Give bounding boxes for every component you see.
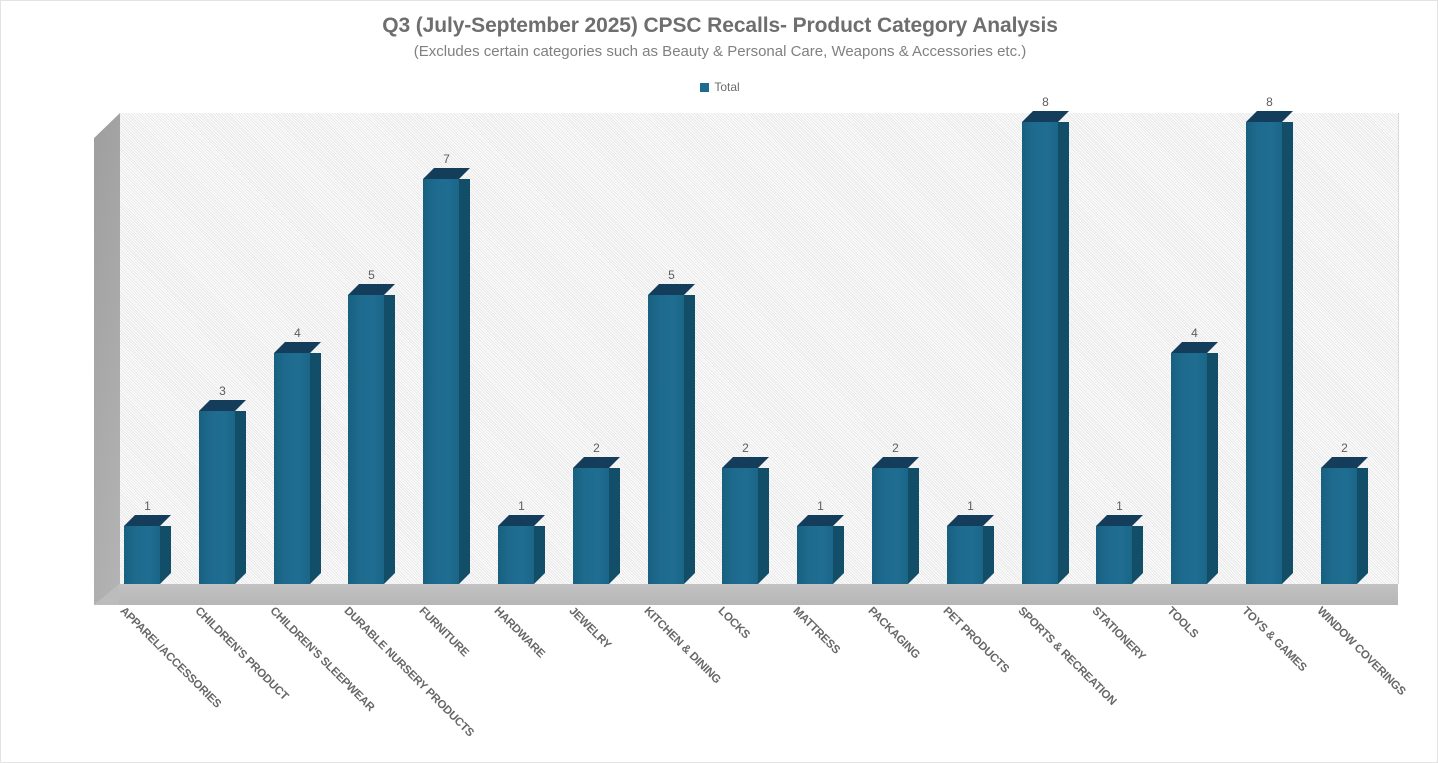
legend-item-label: Total xyxy=(714,80,739,94)
bar-value-label: 4 xyxy=(274,326,321,340)
bar-3[interactable]: 4 xyxy=(274,342,321,584)
bar-front-face xyxy=(1096,526,1132,584)
bar-value-label: 1 xyxy=(1096,499,1143,513)
bar-side-face xyxy=(534,526,545,584)
bar-value-label: 7 xyxy=(423,152,470,166)
x-axis-label-9: LOCKS xyxy=(716,605,752,641)
bar-front-face xyxy=(1171,353,1207,584)
bar-value-label: 2 xyxy=(722,441,769,455)
chart-canvas: Q3 (July-September 2025) CPSC Recalls- P… xyxy=(0,0,1438,763)
plot-floor-surface xyxy=(119,584,1398,605)
bar-1[interactable]: 1 xyxy=(124,515,171,584)
bar-front-face xyxy=(797,526,833,584)
bar-top-face xyxy=(872,457,919,468)
bar-front-face xyxy=(947,526,983,584)
x-axis-label-15: TOOLS xyxy=(1165,605,1201,641)
bar-8[interactable]: 5 xyxy=(648,284,695,584)
bar-value-label: 1 xyxy=(124,499,171,513)
bar-side-face xyxy=(1132,526,1143,584)
bar-top-face xyxy=(573,457,620,468)
bar-11[interactable]: 2 xyxy=(872,457,919,584)
bar-top-face xyxy=(947,515,994,526)
bar-side-face xyxy=(310,353,321,584)
x-axis-label-16: TOYS & GAMES xyxy=(1240,605,1309,674)
legend-item-total[interactable]: Total xyxy=(700,80,739,94)
bar-10[interactable]: 1 xyxy=(797,515,844,584)
bar-top-face xyxy=(722,457,769,468)
page-title: Q3 (July-September 2025) CPSC Recalls- P… xyxy=(1,14,1438,38)
chart-legend: Total xyxy=(1,80,1438,94)
x-axis-labels: APPAREL/ACCESSORIESCHILDREN'S PRODUCTCHI… xyxy=(94,605,1404,735)
bar-17[interactable]: 2 xyxy=(1321,457,1368,584)
bar-top-face xyxy=(1321,457,1368,468)
x-axis-label-6: HARDWARE xyxy=(492,605,547,660)
bar-side-face xyxy=(1207,353,1218,584)
bar-top-face xyxy=(1022,111,1069,122)
bar-value-label: 5 xyxy=(348,268,395,282)
bar-front-face xyxy=(348,295,384,584)
bar-value-label: 2 xyxy=(1321,441,1368,455)
x-axis-label-12: PET PRODUCTS xyxy=(941,605,1012,676)
bar-value-label: 2 xyxy=(573,441,620,455)
bar-4[interactable]: 5 xyxy=(348,284,395,584)
x-axis-label-17: WINDOW COVERINGS xyxy=(1315,605,1408,698)
bar-value-label: 1 xyxy=(947,499,994,513)
bar-value-label: 1 xyxy=(797,499,844,513)
bar-front-face xyxy=(573,468,609,584)
bar-front-face xyxy=(648,295,684,584)
bar-top-face xyxy=(199,400,246,411)
bar-front-face xyxy=(199,411,235,584)
bar-top-face xyxy=(1096,515,1143,526)
x-axis-label-11: PACKAGING xyxy=(866,605,922,661)
bar-side-face xyxy=(758,468,769,584)
bar-side-face xyxy=(160,526,171,584)
bar-value-label: 2 xyxy=(872,441,919,455)
bar-front-face xyxy=(1022,122,1058,584)
bar-front-face xyxy=(124,526,160,584)
bar-12[interactable]: 1 xyxy=(947,515,994,584)
bar-9[interactable]: 2 xyxy=(722,457,769,584)
bar-side-face xyxy=(684,295,695,584)
bar-top-face xyxy=(348,284,395,295)
bar-value-label: 8 xyxy=(1022,95,1069,109)
bar-5[interactable]: 7 xyxy=(423,168,470,584)
plot-area: 13457125212181482 xyxy=(94,113,1398,605)
bar-value-label: 4 xyxy=(1171,326,1218,340)
bar-top-face xyxy=(797,515,844,526)
bar-top-face xyxy=(498,515,545,526)
legend-swatch-icon xyxy=(700,83,709,92)
bar-front-face xyxy=(1246,122,1282,584)
bar-7[interactable]: 2 xyxy=(573,457,620,584)
bar-value-label: 3 xyxy=(199,384,246,398)
bar-side-face xyxy=(384,295,395,584)
bar-6[interactable]: 1 xyxy=(498,515,545,584)
bar-14[interactable]: 1 xyxy=(1096,515,1143,584)
bar-front-face xyxy=(722,468,758,584)
plot-left-wall xyxy=(94,113,120,605)
bar-side-face xyxy=(908,468,919,584)
bar-top-face xyxy=(1171,342,1218,353)
bar-value-label: 8 xyxy=(1246,95,1293,109)
bar-side-face xyxy=(1357,468,1368,584)
x-axis-label-14: STATIONERY xyxy=(1090,605,1148,663)
bar-front-face xyxy=(1321,468,1357,584)
bar-top-face xyxy=(423,168,470,179)
x-axis-label-7: JEWELRY xyxy=(567,605,614,652)
bar-value-label: 5 xyxy=(648,268,695,282)
bar-15[interactable]: 4 xyxy=(1171,342,1218,584)
bar-value-label: 1 xyxy=(498,499,545,513)
bar-2[interactable]: 3 xyxy=(199,400,246,584)
bar-front-face xyxy=(274,353,310,584)
bar-side-face xyxy=(833,526,844,584)
bar-side-face xyxy=(609,468,620,584)
bar-side-face xyxy=(1282,122,1293,584)
x-axis-label-5: FURNITURE xyxy=(417,605,471,659)
x-axis-label-4: DURABLE NURSERY PRODUCTS xyxy=(342,605,476,739)
bar-front-face xyxy=(423,179,459,584)
bar-front-face xyxy=(872,468,908,584)
bar-top-face xyxy=(1246,111,1293,122)
bar-side-face xyxy=(983,526,994,584)
bar-13[interactable]: 8 xyxy=(1022,111,1069,584)
bar-16[interactable]: 8 xyxy=(1246,111,1293,584)
bar-top-face xyxy=(648,284,695,295)
bar-side-face xyxy=(235,411,246,584)
bar-top-face xyxy=(124,515,171,526)
bar-side-face xyxy=(459,179,470,584)
bar-side-face xyxy=(1058,122,1069,584)
chart-subtitle: (Excludes certain categories such as Bea… xyxy=(1,43,1438,60)
bar-top-face xyxy=(274,342,321,353)
x-axis-label-10: MATTRESS xyxy=(791,605,842,656)
x-axis-label-8: KITCHEN & DINING xyxy=(642,605,723,686)
bar-front-face xyxy=(498,526,534,584)
